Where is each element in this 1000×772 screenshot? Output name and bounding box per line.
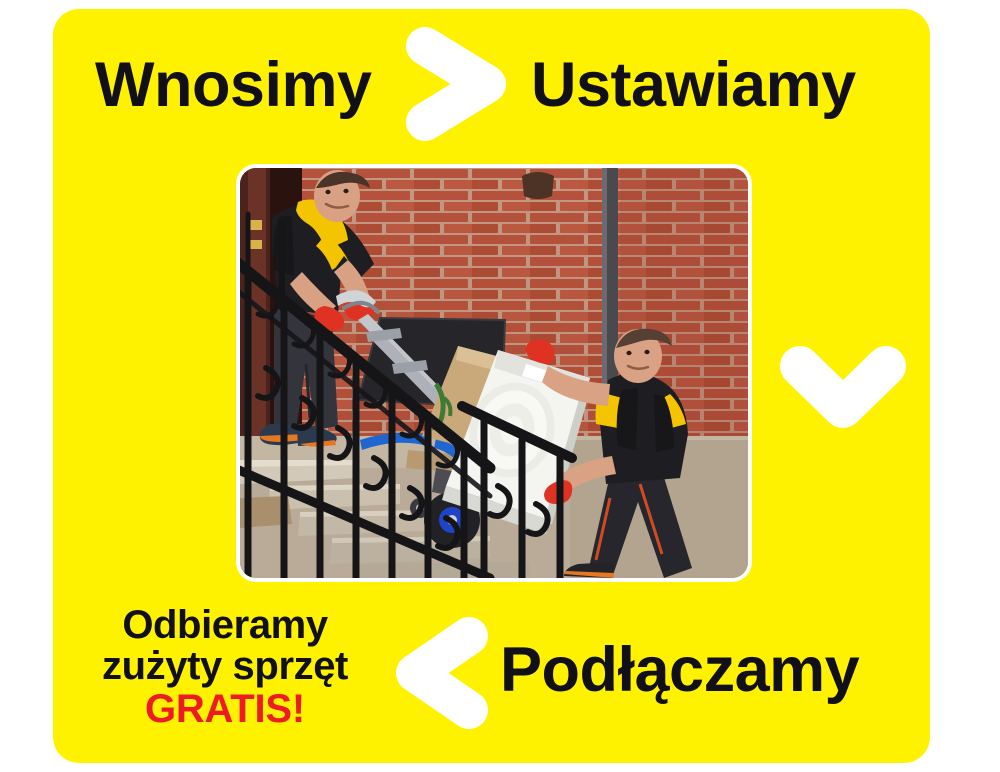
chevron-right-icon: [403, 24, 511, 144]
chevron-left-icon: [393, 614, 491, 732]
photo-frame: [236, 164, 752, 582]
headline-step-wnosimy: Wnosimy: [95, 54, 372, 117]
poster-canvas: Wnosimy Ustawiamy: [0, 0, 1000, 772]
offer-line-2: zużyty sprzęt: [75, 646, 375, 687]
offer-block: Odbieramy zużyty sprzęt GRATIS!: [75, 605, 375, 731]
headline-step-podlaczamy: Podłączamy: [500, 639, 859, 702]
offer-line-1: Odbieramy: [75, 605, 375, 646]
offer-line-gratis: GRATIS!: [75, 689, 375, 730]
chevron-down-icon: [778, 344, 908, 430]
delivery-photo: [240, 168, 748, 578]
headline-step-ustawiamy: Ustawiamy: [531, 54, 856, 117]
